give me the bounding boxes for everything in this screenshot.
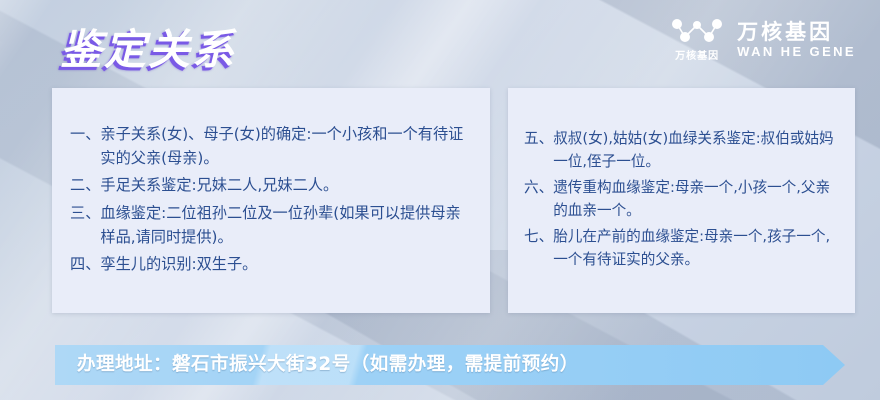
- brand-mark: 万核基因: [671, 18, 723, 62]
- list-item-text: 孪生儿的识别:双生子。: [100, 252, 468, 276]
- panel-left: 一、 亲子关系(女)、母子(女)的确定:一个小孩和一个有待证实的父亲(母亲)。 …: [52, 88, 490, 313]
- list-item: 七、 胎儿在产前的血缘鉴定:母亲一个,孩子一个,一个有待证实的父亲。: [524, 225, 839, 271]
- list-item-text: 亲子关系(女)、母子(女)的确定:一个小孩和一个有待证实的父亲(母亲)。: [100, 122, 468, 170]
- panel-right: 五、 叔叔(女),姑姑(女)血绿关系鉴定:叔伯或姑妈一位,侄子一位。 六、 遗传…: [508, 88, 855, 313]
- brand-logo: 万核基因 万核基因 WAN HE GENE: [671, 18, 856, 62]
- footer-address-text: 办理地址：磐石市振兴大街32号（如需办理，需提前预约）: [77, 345, 579, 385]
- list-item: 五、 叔叔(女),姑姑(女)血绿关系鉴定:叔伯或姑妈一位,侄子一位。: [524, 127, 839, 173]
- list-item-text: 手足关系鉴定:兄妹二人,兄妹二人。: [100, 173, 468, 197]
- page-title: 鉴定关系: [60, 16, 236, 77]
- list-item: 六、 遗传重构血缘鉴定:母亲一个,小孩一个,父亲的血亲一个。: [524, 176, 839, 222]
- slide-canvas: 鉴定关系 万核基因 万核基因: [0, 0, 880, 400]
- background-streak-1: [0, 0, 4, 400]
- list-item-number: 五、: [524, 127, 553, 150]
- brand-name-en: WAN HE GENE: [737, 45, 856, 58]
- list-item-number: 一、: [70, 122, 100, 146]
- brand-text: 万核基因 WAN HE GENE: [737, 22, 856, 58]
- list-item: 三、 血缘鉴定:二位祖孙二位及一位孙辈(如果可以提供母亲样品,请同时提供)。: [70, 201, 468, 249]
- list-item-text: 遗传重构血缘鉴定:母亲一个,小孩一个,父亲的血亲一个。: [553, 176, 839, 222]
- list-item-number: 三、: [70, 201, 100, 225]
- list-item-number: 七、: [524, 225, 553, 248]
- list-item: 一、 亲子关系(女)、母子(女)的确定:一个小孩和一个有待证实的父亲(母亲)。: [70, 122, 468, 170]
- list-item: 四、 孪生儿的识别:双生子。: [70, 252, 468, 276]
- brand-mark-caption: 万核基因: [675, 47, 719, 62]
- list-item-number: 二、: [70, 173, 100, 197]
- list-item-number: 六、: [524, 176, 553, 199]
- list-item: 二、 手足关系鉴定:兄妹二人,兄妹二人。: [70, 173, 468, 197]
- list-item-text: 叔叔(女),姑姑(女)血绿关系鉴定:叔伯或姑妈一位,侄子一位。: [553, 127, 839, 173]
- list-item-text: 血缘鉴定:二位祖孙二位及一位孙辈(如果可以提供母亲样品,请同时提供)。: [100, 201, 468, 249]
- molecule-node-icon: [671, 18, 723, 44]
- list-item-number: 四、: [70, 252, 100, 276]
- brand-name-cn: 万核基因: [737, 22, 856, 43]
- footer-banner: 办理地址：磐石市振兴大街32号（如需办理，需提前预约）: [55, 345, 845, 385]
- list-item-text: 胎儿在产前的血缘鉴定:母亲一个,孩子一个,一个有待证实的父亲。: [553, 225, 839, 271]
